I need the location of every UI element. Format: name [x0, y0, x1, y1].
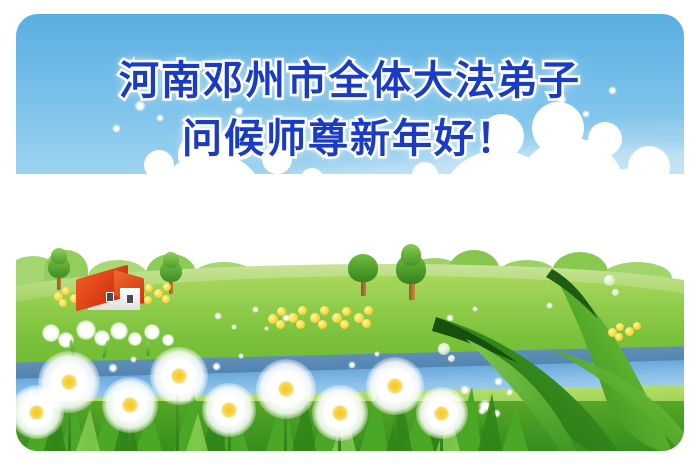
sky-bokeh — [112, 124, 121, 133]
dandelion-row — [16, 335, 684, 451]
landscape-illustration: 河南邓州市全体大法弟子 问候师尊新年好！ — [16, 14, 684, 451]
sky-bokeh — [582, 110, 590, 118]
sparkle — [264, 326, 269, 331]
sky-bokeh — [156, 114, 164, 122]
sky-bokeh — [608, 86, 617, 95]
sky-bokeh — [556, 94, 567, 105]
dew-drop — [612, 289, 619, 296]
dew-drop — [604, 275, 615, 286]
sparkle — [252, 306, 259, 313]
headline-line-1: 河南邓州市全体大法弟子 — [16, 54, 684, 108]
sparkle — [231, 324, 237, 330]
greeting-card: 河南邓州市全体大法弟子 问候师尊新年好！ — [0, 0, 700, 471]
sky-bokeh — [234, 106, 244, 116]
sky-bokeh — [134, 100, 146, 112]
tree — [46, 250, 72, 290]
sparkle — [282, 314, 290, 322]
red-roof-cottage — [76, 266, 154, 312]
